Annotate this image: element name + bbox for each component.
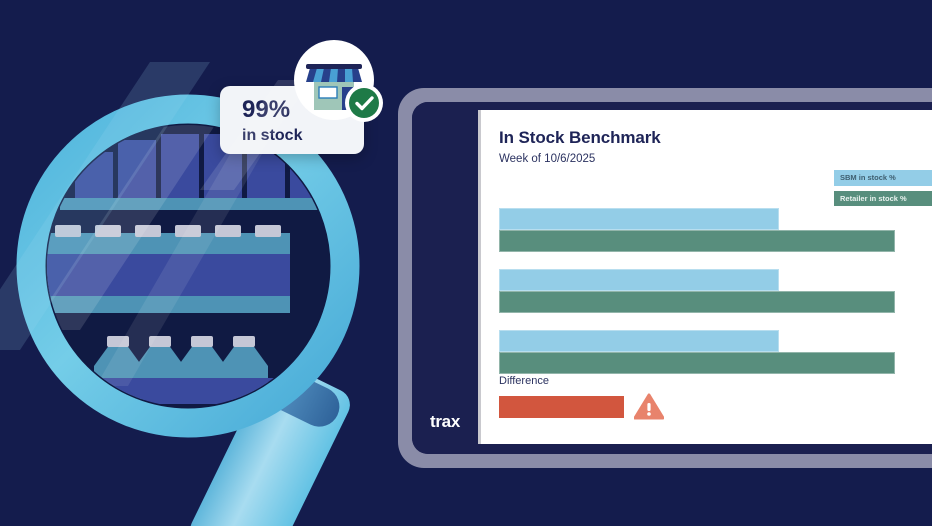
bar-group — [499, 330, 932, 377]
chart-legend: SBM in stock % Retailer in stock % — [834, 170, 932, 211]
store-badge — [288, 38, 388, 138]
brand-logo: trax — [412, 412, 478, 432]
chart-subtitle: Week of 10/6/2025 — [499, 153, 932, 165]
bar-retailer[interactable] — [499, 291, 895, 313]
difference-row — [499, 393, 799, 420]
card-header: In Stock Benchmark Week of 10/6/2025 — [481, 110, 932, 165]
check-circle-icon — [345, 84, 383, 122]
screenshot-canvas: trax In Stock Benchmark Week of 10/6/202… — [0, 0, 932, 526]
dashboard-content-card: In Stock Benchmark Week of 10/6/2025 SBM… — [478, 110, 932, 444]
legend-item-sbm[interactable]: SBM in stock % — [834, 170, 932, 186]
page-title: In Stock Benchmark — [499, 128, 932, 148]
legend-item-retailer[interactable]: Retailer in stock % — [834, 191, 932, 207]
bar-chart-area — [499, 208, 932, 378]
difference-bar[interactable] — [499, 396, 624, 418]
bar-retailer[interactable] — [499, 230, 895, 252]
app-sidebar: trax — [412, 102, 478, 454]
bar-sbm[interactable] — [499, 208, 779, 230]
bar-retailer[interactable] — [499, 352, 895, 374]
warning-triangle-icon — [634, 393, 664, 420]
bar-group — [499, 208, 932, 255]
bar-group — [499, 269, 932, 316]
dashboard-window: trax In Stock Benchmark Week of 10/6/202… — [398, 88, 932, 468]
window-inner: trax In Stock Benchmark Week of 10/6/202… — [412, 102, 932, 454]
bar-sbm[interactable] — [499, 330, 779, 352]
bar-sbm[interactable] — [499, 269, 779, 291]
difference-label: Difference — [499, 375, 799, 387]
difference-section: Difference — [499, 375, 799, 420]
